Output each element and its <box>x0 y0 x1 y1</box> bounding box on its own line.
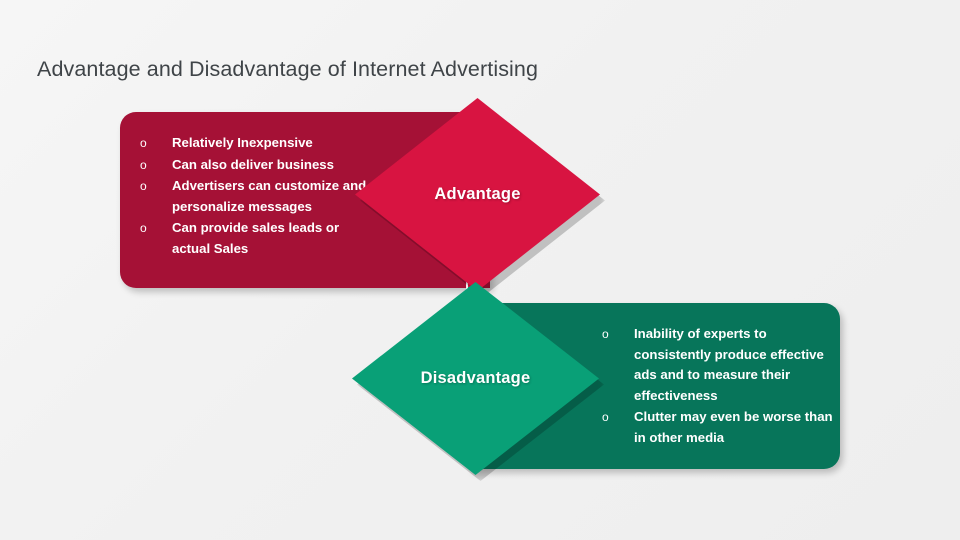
list-item: o Inability of experts to consistently p… <box>602 324 834 406</box>
bullet-marker-icon: o <box>140 133 147 154</box>
list-item: o Relatively Inexpensive <box>140 133 380 154</box>
page-title: Advantage and Disadvantage of Internet A… <box>37 57 538 82</box>
list-item-label: Inability of experts to consistently pro… <box>634 326 824 403</box>
list-item: o Can also deliver business <box>140 155 380 176</box>
list-item: o Advertisers can customize and personal… <box>140 176 380 217</box>
bullet-marker-icon: o <box>140 155 147 176</box>
list-item-label: Can also deliver business <box>172 157 334 172</box>
disadvantage-diamond-label: Disadvantage <box>352 282 599 475</box>
list-item-label: Can provide sales leads or actual Sales <box>172 220 339 256</box>
disadvantage-bullet-list: o Inability of experts to consistently p… <box>602 324 834 450</box>
advantage-bullet-list: o Relatively Inexpensive o Can also deli… <box>140 133 380 261</box>
bullet-marker-icon: o <box>140 218 147 239</box>
slide-canvas: Advantage and Disadvantage of Internet A… <box>0 0 960 540</box>
bullet-marker-icon: o <box>602 324 609 345</box>
list-item: o Can provide sales leads or actual Sale… <box>140 218 380 259</box>
advantage-diamond-label: Advantage <box>355 98 600 291</box>
bullet-marker-icon: o <box>140 176 147 197</box>
disadvantage-diamond: Disadvantage <box>352 282 599 475</box>
list-item-label: Relatively Inexpensive <box>172 135 313 150</box>
advantage-diamond: Advantage <box>355 98 600 291</box>
list-item-label: Advertisers can customize and personaliz… <box>172 178 366 214</box>
bullet-marker-icon: o <box>602 407 609 428</box>
list-item-label: Clutter may even be worse than in other … <box>634 409 833 445</box>
list-item: o Clutter may even be worse than in othe… <box>602 407 834 448</box>
